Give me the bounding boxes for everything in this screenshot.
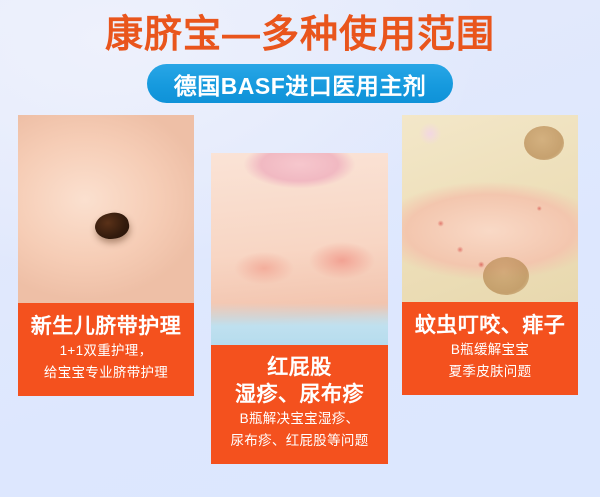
card-subline-2: 尿布疹、红屁股等问题	[215, 430, 384, 452]
photo-baby-arm-bites	[402, 115, 578, 302]
card-heading-line-1: 红屁股	[215, 354, 384, 381]
card-diaper-rash[interactable]: 红屁股 湿疹、尿布疹 B瓶解决宝宝湿疹、 尿布疹、红屁股等问题	[211, 153, 388, 464]
caption-diaper-rash: 红屁股 湿疹、尿布疹 B瓶解决宝宝湿疹、 尿布疹、红屁股等问题	[211, 345, 388, 464]
page-title: 康脐宝—多种使用范围	[0, 12, 600, 58]
badge-basf: 德国BASF进口医用主剂	[147, 64, 453, 103]
card-subline-1: B瓶缓解宝宝	[406, 339, 574, 361]
card-heading-line-2: 湿疹、尿布疹	[215, 381, 384, 408]
card-subline-1: B瓶解决宝宝湿疹、	[215, 408, 384, 430]
promo-poster: 康脐宝—多种使用范围 德国BASF进口医用主剂 新生儿脐带护理 1+1双重护理，…	[0, 0, 600, 497]
card-subline-2: 给宝宝专业脐带护理	[22, 362, 190, 384]
caption-newborn-cord-care: 新生儿脐带护理 1+1双重护理， 给宝宝专业脐带护理	[18, 303, 194, 396]
card-newborn-cord-care[interactable]: 新生儿脐带护理 1+1双重护理， 给宝宝专业脐带护理	[18, 115, 194, 396]
badge-label: 德国BASF进口医用主剂	[174, 67, 427, 101]
card-mosquito-bites[interactable]: 蚊虫叮咬、痱子 B瓶缓解宝宝 夏季皮肤问题	[402, 115, 578, 395]
card-heading: 新生儿脐带护理	[22, 313, 190, 340]
card-subline-1: 1+1双重护理，	[22, 340, 190, 362]
card-heading: 蚊虫叮咬、痱子	[406, 312, 574, 339]
photo-sleeping-baby-face	[211, 153, 388, 345]
photo-newborn-navel	[18, 115, 194, 303]
caption-mosquito-bites: 蚊虫叮咬、痱子 B瓶缓解宝宝 夏季皮肤问题	[402, 302, 578, 395]
card-subline-2: 夏季皮肤问题	[406, 361, 574, 383]
